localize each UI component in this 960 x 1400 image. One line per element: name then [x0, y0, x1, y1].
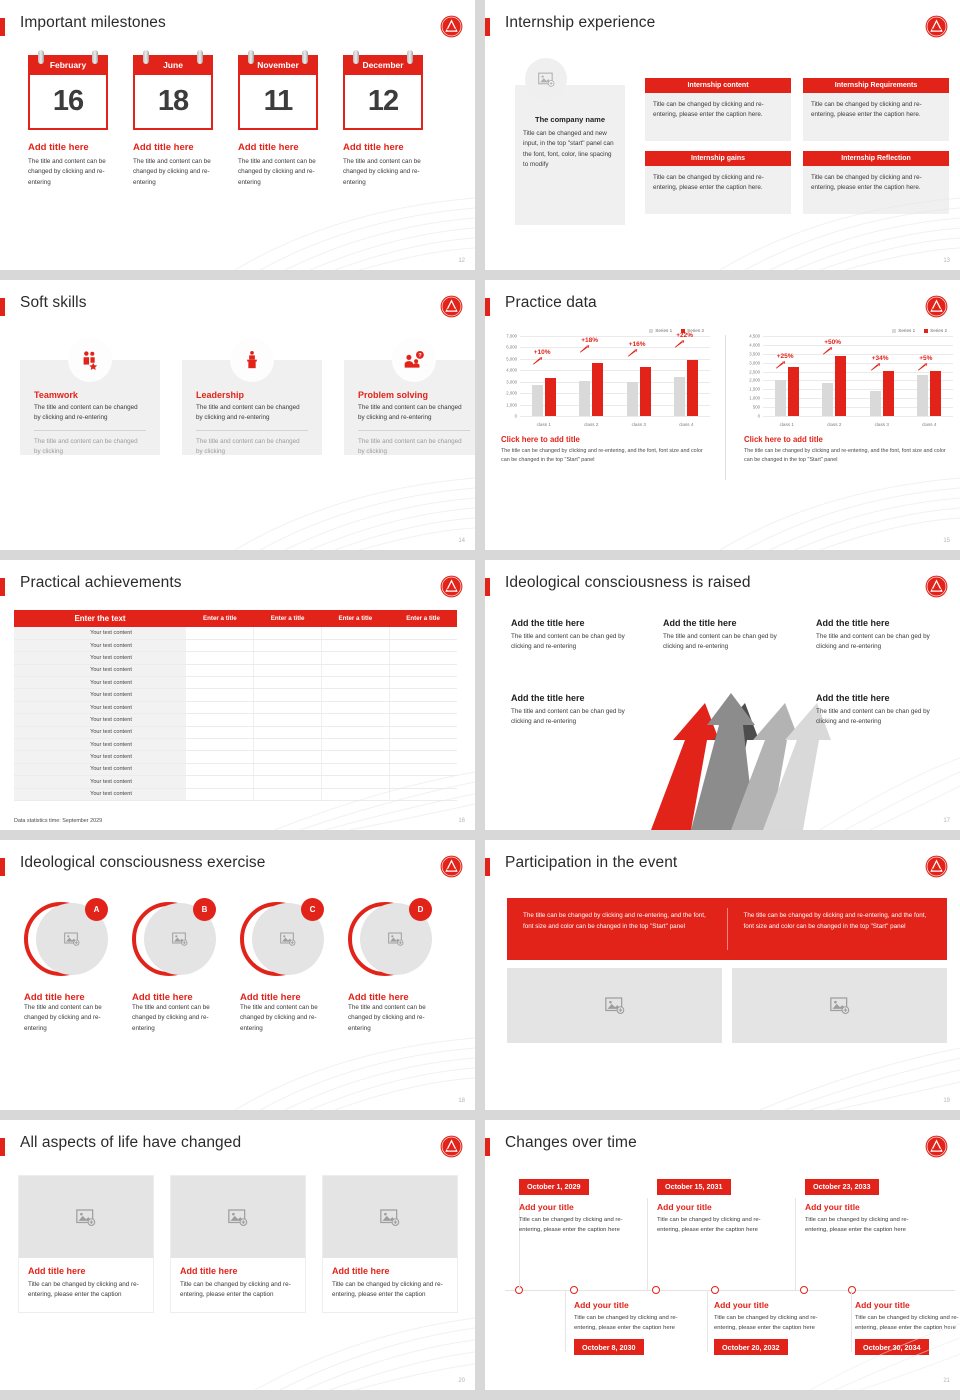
table-cell[interactable] — [389, 763, 457, 775]
exercise-text: The title and content can be changed by … — [24, 1003, 108, 1034]
milestone-text: The title and content can be changed by … — [28, 157, 108, 188]
table-cell-stub — [14, 701, 36, 713]
table-cell[interactable] — [186, 776, 254, 788]
timeline-dot[interactable] — [800, 1286, 808, 1294]
calendar-ring-left — [38, 50, 44, 64]
slide-soft-skills: Soft skills Teamwork The title and conte… — [0, 280, 480, 560]
page-title: Practical achievements — [20, 574, 182, 592]
calendar-body: 11 — [238, 75, 318, 130]
table-cell[interactable] — [322, 763, 390, 775]
page-title: Important milestones — [20, 14, 166, 32]
bar-annotation: +25% — [777, 353, 794, 360]
calendar-body: 16 — [28, 75, 108, 130]
image-card[interactable]: Add title here Title can be changed by c… — [322, 1175, 458, 1313]
table-header-cell[interactable]: Enter the text — [14, 610, 186, 627]
bar-annotation: +22% — [676, 332, 693, 339]
table-cell[interactable] — [322, 627, 390, 639]
band-text-right: The title can be changed by clicking and… — [728, 898, 948, 960]
table-cell[interactable] — [186, 652, 254, 664]
timeline-dot[interactable] — [652, 1286, 660, 1294]
info-block-text: The title and content can be chan ged by… — [663, 632, 788, 653]
milestone-item[interactable]: December 12 Add title here The title and… — [343, 55, 423, 188]
info-block[interactable]: Add the title here The title and content… — [663, 618, 788, 653]
table-cell[interactable] — [186, 763, 254, 775]
bar-group: +10% — [532, 336, 556, 416]
table-cell[interactable] — [389, 776, 457, 788]
exercise-item[interactable]: A Add title here The title and content c… — [24, 898, 108, 1034]
chart-legend: Series 1 Series 2 — [740, 328, 955, 333]
timeline-event-bottom[interactable]: Add your title Title can be changed by c… — [714, 1300, 832, 1355]
table-cell[interactable] — [254, 714, 322, 726]
page-title: Ideological consciousness exercise — [20, 854, 266, 872]
calendar-month: December — [362, 60, 403, 70]
y-tick: 1,500 — [749, 387, 760, 392]
table-row[interactable]: Your text content — [14, 776, 457, 788]
info-block[interactable]: Add the title here The title and content… — [816, 618, 941, 653]
soft-skill-card[interactable]: Teamwork The title and content can be ch… — [20, 360, 160, 455]
table-cell[interactable] — [322, 751, 390, 763]
internship-card-head: Internship content — [645, 78, 791, 93]
table-cell-stub — [14, 677, 36, 689]
table-cell[interactable] — [254, 739, 322, 751]
milestone-title: Add title here — [343, 142, 423, 153]
table-cell-stub — [14, 763, 36, 775]
x-tick: class 1 — [537, 422, 551, 427]
table-cell[interactable] — [186, 664, 254, 676]
calendar-ring-right — [92, 50, 98, 64]
slide-number: 13 — [943, 258, 950, 264]
calendar-day: 12 — [368, 85, 398, 118]
triangle-a-logo-icon — [440, 855, 463, 878]
up-arrow-icon — [775, 361, 786, 369]
table-cell[interactable] — [254, 677, 322, 689]
table-cell-label[interactable]: Your text content — [36, 714, 186, 726]
add-image-icon — [380, 1209, 400, 1226]
timeline: October 1, 2029 Add your title Title can… — [485, 1120, 960, 1400]
chart-caption[interactable]: Click here to add title The title can be… — [740, 435, 955, 465]
table-row[interactable]: Your text content — [14, 639, 457, 651]
table-row[interactable]: Your text content — [14, 652, 457, 664]
table-cell[interactable] — [186, 739, 254, 751]
table-cell-label[interactable]: Your text content — [36, 726, 186, 738]
table-cell[interactable] — [322, 677, 390, 689]
table-cell[interactable] — [254, 726, 322, 738]
exercise-title: Add title here — [132, 992, 216, 1003]
slide-header: Ideological consciousness exercise — [0, 854, 475, 880]
table-cell[interactable] — [389, 664, 457, 676]
internship-card[interactable]: Internship content Title can be changed … — [645, 78, 791, 141]
exercise-text: The title and content can be changed by … — [240, 1003, 324, 1034]
table-cell[interactable] — [254, 639, 322, 651]
calendar-ring-left — [353, 50, 359, 64]
info-block-text: The title and content can be chan ged by… — [816, 632, 941, 653]
bar-series1 — [775, 380, 786, 416]
x-tick: class 2 — [827, 422, 841, 427]
slide-header: Internship experience — [485, 14, 960, 40]
table-cell[interactable] — [389, 627, 457, 639]
legend-item: Series 1 — [892, 328, 915, 333]
legend-label: Series 2 — [930, 328, 947, 333]
table-cell[interactable] — [254, 751, 322, 763]
table-cell-stub — [14, 739, 36, 751]
calendar-month: November — [257, 60, 299, 70]
y-tick: 3,000 — [749, 360, 760, 365]
table-row[interactable]: Your text content — [14, 714, 457, 726]
milestone-row: February 16 Add title here The title and… — [28, 55, 423, 188]
calendar-icon: February 16 — [28, 55, 108, 130]
table-row[interactable]: Your text content — [14, 664, 457, 676]
internship-card[interactable]: Internship gains Title can be changed by… — [645, 151, 791, 214]
x-tick: class 3 — [875, 422, 889, 427]
table-row[interactable]: Your text content — [14, 788, 457, 800]
table-cell[interactable] — [322, 701, 390, 713]
band-text-left: The title can be changed by clicking and… — [507, 898, 727, 960]
table-cell[interactable] — [389, 639, 457, 651]
bar-group: +50% — [822, 336, 846, 416]
exercise-item[interactable]: D Add title here The title and content c… — [348, 898, 432, 1034]
slide-practice-data: Practice data Series 1 Series 2 7,000 6,… — [480, 280, 960, 560]
legend-swatch-series2 — [924, 329, 928, 333]
company-photo-placeholder[interactable] — [525, 58, 567, 100]
table-cell-stub — [14, 788, 36, 800]
table-cell-label[interactable]: Your text content — [36, 639, 186, 651]
table-row[interactable]: Your text content — [14, 689, 457, 701]
milestone-item[interactable]: November 11 Add title here The title and… — [238, 55, 318, 188]
table-cell[interactable] — [322, 739, 390, 751]
bar-series1 — [822, 383, 833, 416]
chart-caption[interactable]: Click here to add title The title can be… — [497, 435, 712, 465]
legend-item: Series 2 — [924, 328, 947, 333]
soft-skill-title: Leadership — [196, 390, 308, 400]
table-cell[interactable] — [186, 639, 254, 651]
slide-ideological-consciousness-raised: Ideological consciousness is raised Add … — [480, 560, 960, 840]
bar-chart-right[interactable]: Series 1 Series 2 4,500 4,000 3,500 3,00… — [740, 328, 955, 465]
chart-cta-title: Click here to add title — [744, 435, 955, 444]
slide-header: Participation in the event — [485, 854, 960, 880]
timeline-event-title: Add your title — [574, 1300, 692, 1310]
table-cell[interactable] — [254, 652, 322, 664]
photo-row — [507, 968, 947, 1043]
table-cell[interactable] — [389, 739, 457, 751]
timeline-date-badge: October 1, 2029 — [519, 1179, 589, 1195]
table-row[interactable]: Your text content — [14, 627, 457, 639]
add-image-icon — [228, 1209, 248, 1226]
y-axis: 4,500 4,000 3,500 3,000 2,500 2,000 1,50… — [740, 336, 762, 416]
table-header-cell[interactable]: Enter a title — [322, 610, 390, 627]
calendar-icon: December 12 — [343, 55, 423, 130]
y-tick: 0 — [515, 414, 517, 419]
title-accent-bar — [0, 298, 5, 316]
table-cell-label[interactable]: Your text content — [36, 739, 186, 751]
bar-series2 — [687, 360, 698, 416]
internship-card[interactable]: Internship Reflection Title can be chang… — [803, 151, 949, 214]
milestone-title: Add title here — [238, 142, 318, 153]
milestone-item[interactable]: February 16 Add title here The title and… — [28, 55, 108, 188]
title-accent-bar — [0, 1138, 5, 1156]
circle-badge: A — [85, 898, 108, 921]
page-title: Soft skills — [20, 294, 87, 312]
svg-text:?: ? — [418, 353, 422, 359]
red-text-band[interactable]: The title can be changed by clicking and… — [507, 898, 947, 960]
image-card[interactable]: Add title here Title can be changed by c… — [170, 1175, 306, 1313]
table-cell[interactable] — [254, 689, 322, 701]
page-title: Ideological consciousness is raised — [505, 574, 751, 592]
table-cell-label[interactable]: Your text content — [36, 652, 186, 664]
table-cell[interactable] — [254, 776, 322, 788]
table-row[interactable]: Your text content — [14, 677, 457, 689]
problem-solving-icon: ? — [392, 338, 436, 382]
bar-series1 — [532, 385, 543, 416]
info-block-title: Add the title here — [816, 618, 941, 628]
table-cell[interactable] — [254, 788, 322, 800]
slide-important-milestones: Important milestones February 16 Add tit… — [0, 0, 480, 280]
table-row[interactable]: Your text content — [14, 751, 457, 763]
info-block-text: The title and content can be chan ged by… — [511, 707, 636, 728]
table-cell[interactable] — [322, 776, 390, 788]
table-cell-label[interactable]: Your text content — [36, 677, 186, 689]
title-accent-bar — [0, 18, 5, 36]
slide-header: Important milestones — [0, 14, 475, 40]
table-header-row: Enter the text Enter a title Enter a tit… — [14, 610, 457, 627]
image-card-body: Add title here Title can be changed by c… — [171, 1258, 305, 1312]
internship-card-body: Title can be changed by clicking and re-… — [645, 93, 791, 141]
timeline-event-top[interactable]: October 23, 2033 Add your title Title ca… — [805, 1176, 917, 1235]
table-cell-stub — [14, 776, 36, 788]
title-accent-bar — [485, 858, 490, 876]
table-row[interactable]: Your text content — [14, 726, 457, 738]
table-cell[interactable] — [389, 701, 457, 713]
table-cell[interactable] — [322, 639, 390, 651]
info-block-title: Add the title here — [511, 693, 636, 703]
timeline-event-bottom[interactable]: Add your title Title can be changed by c… — [855, 1300, 960, 1355]
divider — [196, 430, 308, 431]
title-accent-bar — [0, 578, 5, 596]
table-cell[interactable] — [389, 726, 457, 738]
table-body: Your text contentYour text contentYour t… — [14, 627, 457, 800]
exercise-text: The title and content can be changed by … — [348, 1003, 432, 1034]
internship-card-head: Internship Requirements — [803, 78, 949, 93]
y-tick: 7,000 — [506, 334, 517, 339]
table-cell[interactable] — [389, 751, 457, 763]
bar-series1 — [579, 381, 590, 416]
legend-item: Series 1 — [649, 328, 672, 333]
table-cell-label[interactable]: Your text content — [36, 689, 186, 701]
table-cell[interactable] — [254, 701, 322, 713]
table-cell-label[interactable]: Your text content — [36, 763, 186, 775]
table-cell[interactable] — [322, 714, 390, 726]
x-axis: class 1 class 2 class 3 class 4 — [520, 422, 710, 427]
calendar-ring-right — [197, 50, 203, 64]
y-tick: 0 — [758, 414, 760, 419]
table-cell[interactable] — [186, 788, 254, 800]
legend-swatch-series1 — [649, 329, 653, 333]
slide-header: Soft skills — [0, 294, 475, 320]
table-cell-label[interactable]: Your text content — [36, 751, 186, 763]
milestone-item[interactable]: June 18 Add title here The title and con… — [133, 55, 213, 188]
image-card[interactable]: Add title here Title can be changed by c… — [18, 1175, 154, 1313]
table-header-cell[interactable]: Enter a title — [254, 610, 322, 627]
table-header-cell[interactable]: Enter a title — [389, 610, 457, 627]
triangle-a-logo-icon — [440, 1135, 463, 1158]
soft-skill-subtext: The title and content can be changed by … — [196, 437, 308, 458]
x-tick: class 3 — [632, 422, 646, 427]
image-card-text: Title can be changed by clicking and re-… — [28, 1280, 144, 1301]
slide-internship-experience: Internship experience The company name T… — [480, 0, 960, 280]
table-row[interactable]: Your text content — [14, 763, 457, 775]
info-block-text: The title and content can be chan ged by… — [816, 707, 941, 728]
info-block-accent[interactable]: Add the title here The title and content… — [511, 693, 636, 728]
bar-series1 — [870, 391, 881, 416]
slide-practical-achievements: Practical achievements Enter the text En… — [0, 560, 480, 840]
table-cell[interactable] — [322, 664, 390, 676]
table-cell[interactable] — [254, 664, 322, 676]
table-cell[interactable] — [389, 652, 457, 664]
title-accent-bar — [485, 578, 490, 596]
internship-card-body: Title can be changed by clicking and re-… — [803, 166, 949, 214]
table-cell[interactable] — [186, 689, 254, 701]
internship-card-body: Title can be changed by clicking and re-… — [645, 166, 791, 214]
info-block[interactable]: Add the title here The title and content… — [511, 618, 636, 653]
calendar-body: 18 — [133, 75, 213, 130]
add-image-icon — [64, 932, 80, 946]
table-cell[interactable] — [186, 714, 254, 726]
timeline-event-text: Title can be changed by clicking and re-… — [519, 1215, 631, 1235]
table-cell[interactable] — [186, 726, 254, 738]
timeline-dot[interactable] — [848, 1286, 856, 1294]
soft-skill-card[interactable]: Leadership The title and content can be … — [182, 360, 322, 455]
slide-header: Practice data — [485, 294, 960, 320]
bar-group: +5% — [917, 336, 941, 416]
table-cell[interactable] — [389, 677, 457, 689]
add-image-icon — [172, 932, 188, 946]
table-cell-label[interactable]: Your text content — [36, 701, 186, 713]
table-cell[interactable] — [322, 726, 390, 738]
table-cell-label[interactable]: Your text content — [36, 627, 186, 639]
table-cell-label[interactable]: Your text content — [36, 664, 186, 676]
calendar-month: February — [50, 60, 86, 70]
milestone-text: The title and content can be changed by … — [133, 157, 213, 188]
table-cell-label[interactable]: Your text content — [36, 776, 186, 788]
table-header-cell[interactable]: Enter a title — [186, 610, 254, 627]
triangle-a-logo-icon — [440, 15, 463, 38]
bar-series1 — [674, 377, 685, 416]
table-cell[interactable] — [322, 788, 390, 800]
exercise-circle: C — [240, 898, 324, 980]
divider — [358, 430, 470, 431]
table-cell[interactable] — [322, 689, 390, 701]
image-card-text: Title can be changed by clicking and re-… — [180, 1280, 296, 1301]
table-cell[interactable] — [186, 751, 254, 763]
chart-cta-text: The title can be changed by clicking and… — [501, 447, 712, 465]
soft-skill-text: The title and content can be changed by … — [358, 403, 470, 424]
timeline-event-text: Title can be changed by clicking and re-… — [805, 1215, 917, 1235]
bar-annotation: +34% — [872, 355, 889, 362]
y-tick: 4,000 — [506, 368, 517, 373]
timeline-event-text: Title can be changed by clicking and re-… — [657, 1215, 769, 1235]
table-cell-label[interactable]: Your text content — [36, 788, 186, 800]
page-title: All aspects of life have changed — [20, 1134, 241, 1152]
photo-placeholder[interactable] — [507, 968, 722, 1043]
achievements-table[interactable]: Enter the text Enter a title Enter a tit… — [14, 610, 457, 801]
info-block-text: The title and content can be chan ged by… — [511, 632, 636, 653]
timeline-event-top[interactable]: October 1, 2029 Add your title Title can… — [519, 1176, 631, 1235]
triangle-a-logo-icon — [925, 295, 948, 318]
up-arrow-icon — [822, 347, 833, 355]
y-tick: 3,000 — [506, 379, 517, 384]
photo-placeholder[interactable] — [732, 968, 947, 1043]
bar-chart-left[interactable]: Series 1 Series 2 7,000 6,000 5,000 4,00… — [497, 328, 712, 465]
x-tick: class 2 — [584, 422, 598, 427]
slide-participation-in-the-event: Participation in the event The title can… — [480, 840, 960, 1120]
y-axis: 7,000 6,000 5,000 4,000 3,000 2,000 1,00… — [497, 336, 519, 416]
milestone-title: Add title here — [133, 142, 213, 153]
table-cell[interactable] — [389, 714, 457, 726]
table-cell[interactable] — [389, 689, 457, 701]
exercise-item[interactable]: C Add title here The title and content c… — [240, 898, 324, 1034]
table-row[interactable]: Your text content — [14, 739, 457, 751]
photo-placeholder[interactable] — [171, 1176, 305, 1258]
table-cell[interactable] — [322, 652, 390, 664]
table-cell[interactable] — [186, 627, 254, 639]
y-tick: 4,000 — [749, 342, 760, 347]
bar-series2 — [545, 378, 556, 416]
timeline-event-top[interactable]: October 15, 2031 Add your title Title ca… — [657, 1176, 769, 1235]
chart-bars: +10% +18% +16% — [520, 336, 710, 416]
slide-number: 16 — [458, 818, 465, 824]
add-image-icon — [605, 997, 625, 1014]
soft-skill-subtext: The title and content can be changed by … — [358, 437, 470, 458]
timeline-dot[interactable] — [570, 1286, 578, 1294]
table-cell[interactable] — [254, 627, 322, 639]
table-cell[interactable] — [186, 677, 254, 689]
bar-series1 — [917, 375, 928, 416]
triangle-a-logo-icon — [440, 575, 463, 598]
x-tick: class 4 — [922, 422, 936, 427]
table-cell[interactable] — [186, 701, 254, 713]
company-card[interactable]: The company name Title can be changed an… — [515, 85, 625, 225]
table-row[interactable]: Your text content — [14, 701, 457, 713]
y-tick: 4,500 — [749, 334, 760, 339]
page-title: Participation in the event — [505, 854, 677, 872]
timeline-event-title: Add your title — [714, 1300, 832, 1310]
slide-header: All aspects of life have changed — [0, 1134, 475, 1160]
table-cell[interactable] — [389, 788, 457, 800]
image-card-body: Add title here Title can be changed by c… — [323, 1258, 457, 1312]
timeline-date-badge: October 8, 2030 — [574, 1339, 644, 1355]
soft-skill-card[interactable]: ? Problem solving The title and content … — [344, 360, 480, 455]
calendar-ring-right — [302, 50, 308, 64]
photo-placeholder[interactable] — [323, 1176, 457, 1258]
table-cell[interactable] — [254, 763, 322, 775]
y-tick: 3,500 — [749, 351, 760, 356]
up-arrow-icon — [579, 345, 590, 353]
internship-card[interactable]: Internship Requirements Title can be cha… — [803, 78, 949, 141]
photo-placeholder[interactable] — [19, 1176, 153, 1258]
calendar-ring-right — [407, 50, 413, 64]
calendar-day: 18 — [158, 85, 188, 118]
triangle-a-logo-icon — [440, 295, 463, 318]
info-block[interactable]: Add the title here The title and content… — [816, 693, 941, 728]
slide-number: 19 — [943, 1098, 950, 1104]
table-cell-stub — [14, 689, 36, 701]
info-block-title: Add the title here — [816, 693, 941, 703]
timeline-event-bottom[interactable]: Add your title Title can be changed by c… — [574, 1300, 692, 1355]
calendar-body: 12 — [343, 75, 423, 130]
timeline-dot[interactable] — [711, 1286, 719, 1294]
title-accent-bar — [485, 298, 490, 316]
chart-plot-area: 4,500 4,000 3,500 3,000 2,500 2,000 1,50… — [740, 336, 955, 431]
exercise-item[interactable]: B Add title here The title and content c… — [132, 898, 216, 1034]
